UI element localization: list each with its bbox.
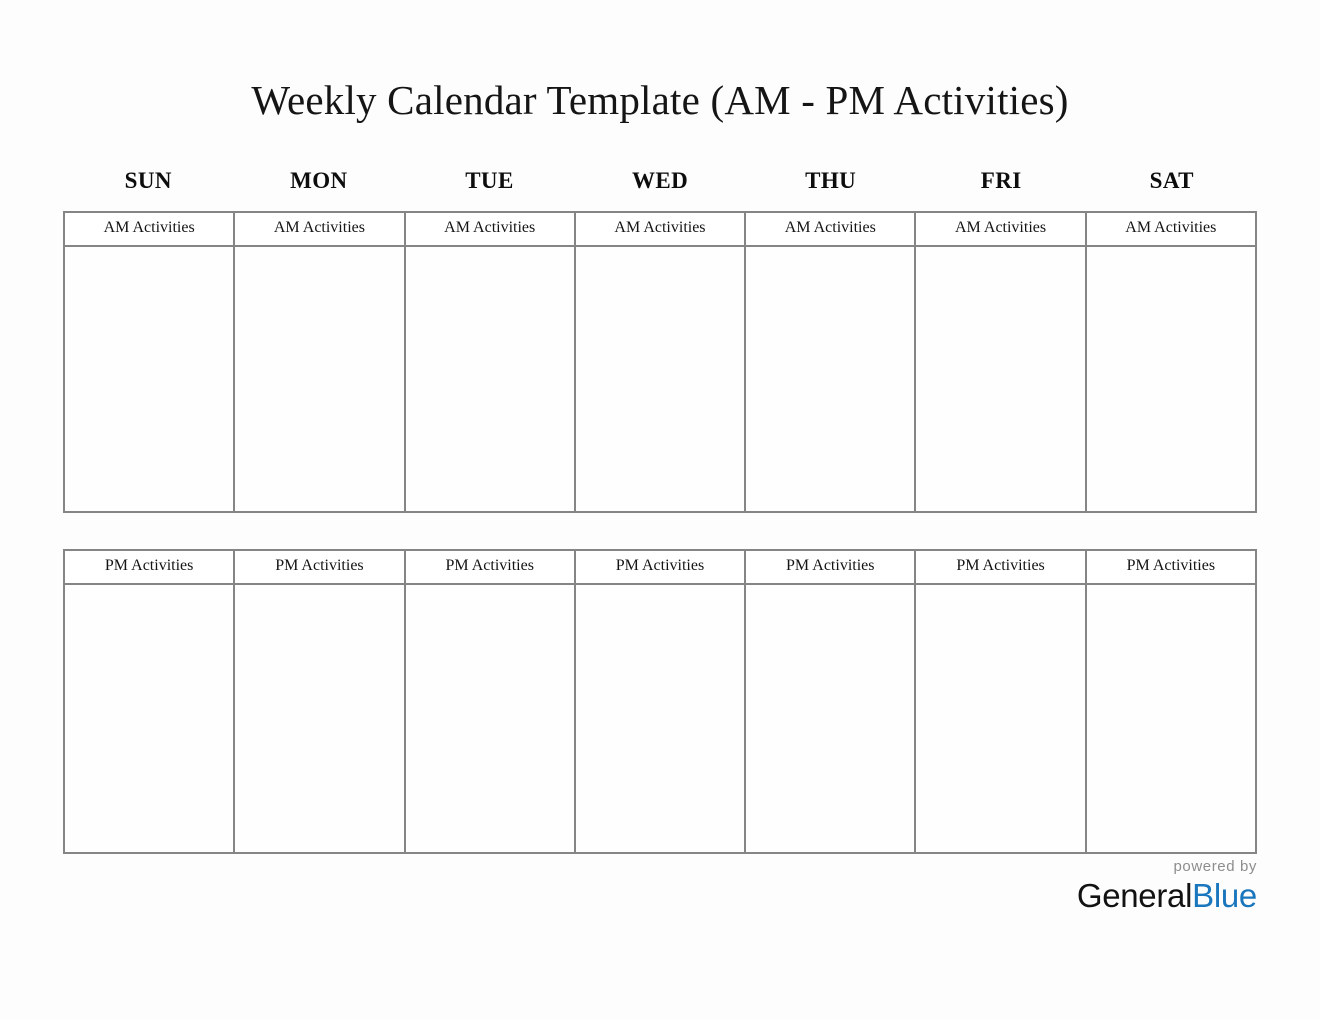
am-label-mon: AM Activities (235, 213, 405, 245)
am-cell-sun[interactable] (65, 247, 235, 511)
pm-cell-mon[interactable] (235, 585, 405, 852)
am-cell-thu[interactable] (746, 247, 916, 511)
am-cell-wed[interactable] (576, 247, 746, 511)
am-label-tue: AM Activities (406, 213, 576, 245)
page-title: Weekly Calendar Template (AM - PM Activi… (0, 76, 1320, 124)
day-header-fri: FRI (916, 168, 1087, 194)
pm-cell-sun[interactable] (65, 585, 235, 852)
am-label-thu: AM Activities (746, 213, 916, 245)
am-cell-fri[interactable] (916, 247, 1086, 511)
day-header-sat: SAT (1086, 168, 1257, 194)
calendar-page: Weekly Calendar Template (AM - PM Activi… (0, 0, 1320, 1020)
pm-label-sat: PM Activities (1087, 551, 1255, 583)
pm-cell-wed[interactable] (576, 585, 746, 852)
pm-label-fri: PM Activities (916, 551, 1086, 583)
pm-body-row (63, 583, 1257, 854)
pm-cell-fri[interactable] (916, 585, 1086, 852)
am-body-row (63, 245, 1257, 513)
brand-name-general: General (1077, 877, 1192, 914)
am-cell-mon[interactable] (235, 247, 405, 511)
day-header-wed: WED (575, 168, 746, 194)
footer-branding: powered by GeneralBlue (1077, 858, 1257, 914)
am-label-row: AM Activities AM Activities AM Activitie… (63, 211, 1257, 245)
day-header-thu: THU (745, 168, 916, 194)
pm-label-tue: PM Activities (406, 551, 576, 583)
pm-label-thu: PM Activities (746, 551, 916, 583)
am-label-wed: AM Activities (576, 213, 746, 245)
powered-by-label: powered by (1077, 858, 1257, 876)
day-header-tue: TUE (404, 168, 575, 194)
day-header-mon: MON (234, 168, 405, 194)
pm-label-mon: PM Activities (235, 551, 405, 583)
generalblue-logo[interactable]: GeneralBlue (1077, 878, 1257, 914)
pm-cell-tue[interactable] (406, 585, 576, 852)
pm-cell-sat[interactable] (1087, 585, 1255, 852)
pm-label-wed: PM Activities (576, 551, 746, 583)
pm-activities-table: PM Activities PM Activities PM Activitie… (63, 549, 1257, 852)
day-header-sun: SUN (63, 168, 234, 194)
am-label-sat: AM Activities (1087, 213, 1255, 245)
am-label-sun: AM Activities (65, 213, 235, 245)
day-header-row: SUN MON TUE WED THU FRI SAT (63, 168, 1257, 194)
pm-label-row: PM Activities PM Activities PM Activitie… (63, 549, 1257, 583)
am-label-fri: AM Activities (916, 213, 1086, 245)
am-cell-tue[interactable] (406, 247, 576, 511)
pm-label-sun: PM Activities (65, 551, 235, 583)
am-activities-table: AM Activities AM Activities AM Activitie… (63, 211, 1257, 511)
am-cell-sat[interactable] (1087, 247, 1255, 511)
pm-cell-thu[interactable] (746, 585, 916, 852)
brand-name-blue: Blue (1192, 877, 1257, 914)
